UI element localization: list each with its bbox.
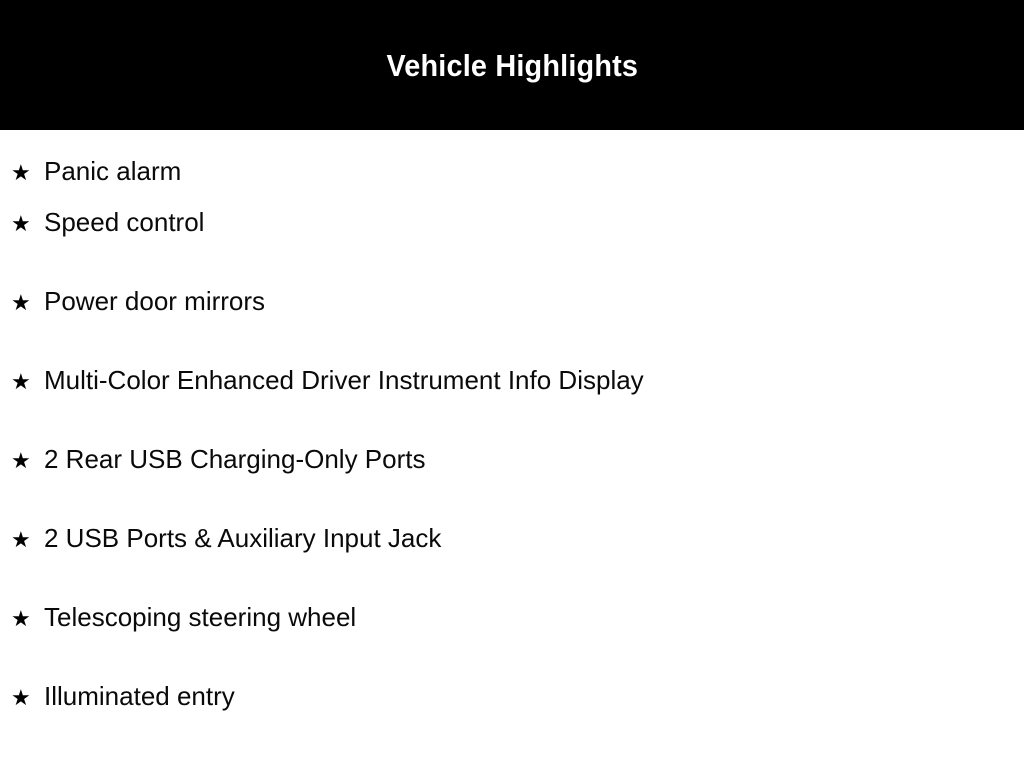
list-item-label: Telescoping steering wheel — [44, 604, 356, 630]
page-title: Vehicle Highlights — [386, 50, 638, 81]
star-icon: ★ — [11, 451, 44, 473]
star-icon: ★ — [11, 163, 44, 185]
star-icon: ★ — [11, 372, 44, 394]
list-item: ★ 2 USB Ports & Auxiliary Input Jack — [0, 525, 1024, 604]
list-item-label: Multi-Color Enhanced Driver Instrument I… — [44, 367, 644, 393]
list-item: ★ Multi-Color Enhanced Driver Instrument… — [0, 367, 1024, 446]
vehicle-highlights-slide: Vehicle Highlights ★ Panic alarm ★ Speed… — [0, 0, 1024, 768]
list-item: ★ Speed control — [0, 209, 1024, 288]
header-banner: Vehicle Highlights — [0, 0, 1024, 130]
list-item: ★ Illuminated entry — [0, 683, 1024, 762]
star-icon: ★ — [11, 293, 44, 315]
star-icon: ★ — [11, 214, 44, 236]
list-item-label: Power door mirrors — [44, 288, 265, 314]
list-item-label: 2 USB Ports & Auxiliary Input Jack — [44, 525, 441, 551]
list-item: ★ Panic alarm — [0, 130, 1024, 209]
star-icon: ★ — [11, 530, 44, 552]
list-item-label: Panic alarm — [44, 158, 181, 184]
list-item-label: Speed control — [44, 209, 204, 235]
list-item-label: 2 Rear USB Charging-Only Ports — [44, 446, 425, 472]
list-item: ★ Telescoping steering wheel — [0, 604, 1024, 683]
star-icon: ★ — [11, 609, 44, 631]
vehicle-highlights-list: ★ Panic alarm ★ Speed control ★ Power do… — [0, 130, 1024, 762]
star-icon: ★ — [11, 688, 44, 710]
list-item: ★ 2 Rear USB Charging-Only Ports — [0, 446, 1024, 525]
list-item-label: Illuminated entry — [44, 683, 235, 709]
list-item: ★ Power door mirrors — [0, 288, 1024, 367]
